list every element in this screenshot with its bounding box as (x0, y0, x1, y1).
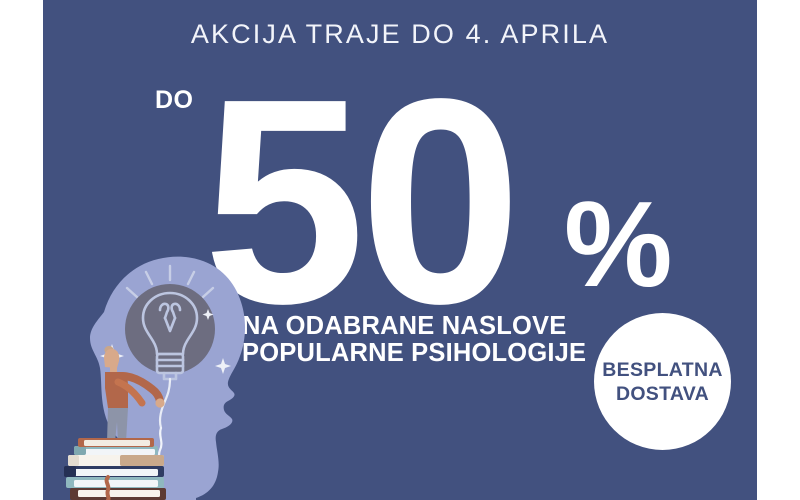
badge-line-2: DOSTAVA (616, 382, 709, 406)
subtitle-line-1: NA ODABRANE NASLOVE (242, 313, 586, 340)
discount-unit: % (564, 183, 672, 305)
illustration (60, 246, 280, 500)
promotional-banner: AKCIJA TRAJE DO 4. APRILA DO 50 % NA ODA… (0, 0, 800, 500)
banner-panel: AKCIJA TRAJE DO 4. APRILA DO 50 % NA ODA… (43, 0, 757, 500)
discount-prefix-label: DO (155, 88, 194, 113)
free-delivery-badge: BESPLATNA DOSTAVA (594, 313, 731, 450)
book-stack-icon (64, 438, 166, 500)
badge-line-1: BESPLATNA (602, 358, 722, 382)
subtitle-line-2: POPULARNE PSIHOLOGIJE (242, 340, 586, 367)
subtitle: NA ODABRANE NASLOVE POPULARNE PSIHOLOGIJ… (242, 313, 586, 367)
